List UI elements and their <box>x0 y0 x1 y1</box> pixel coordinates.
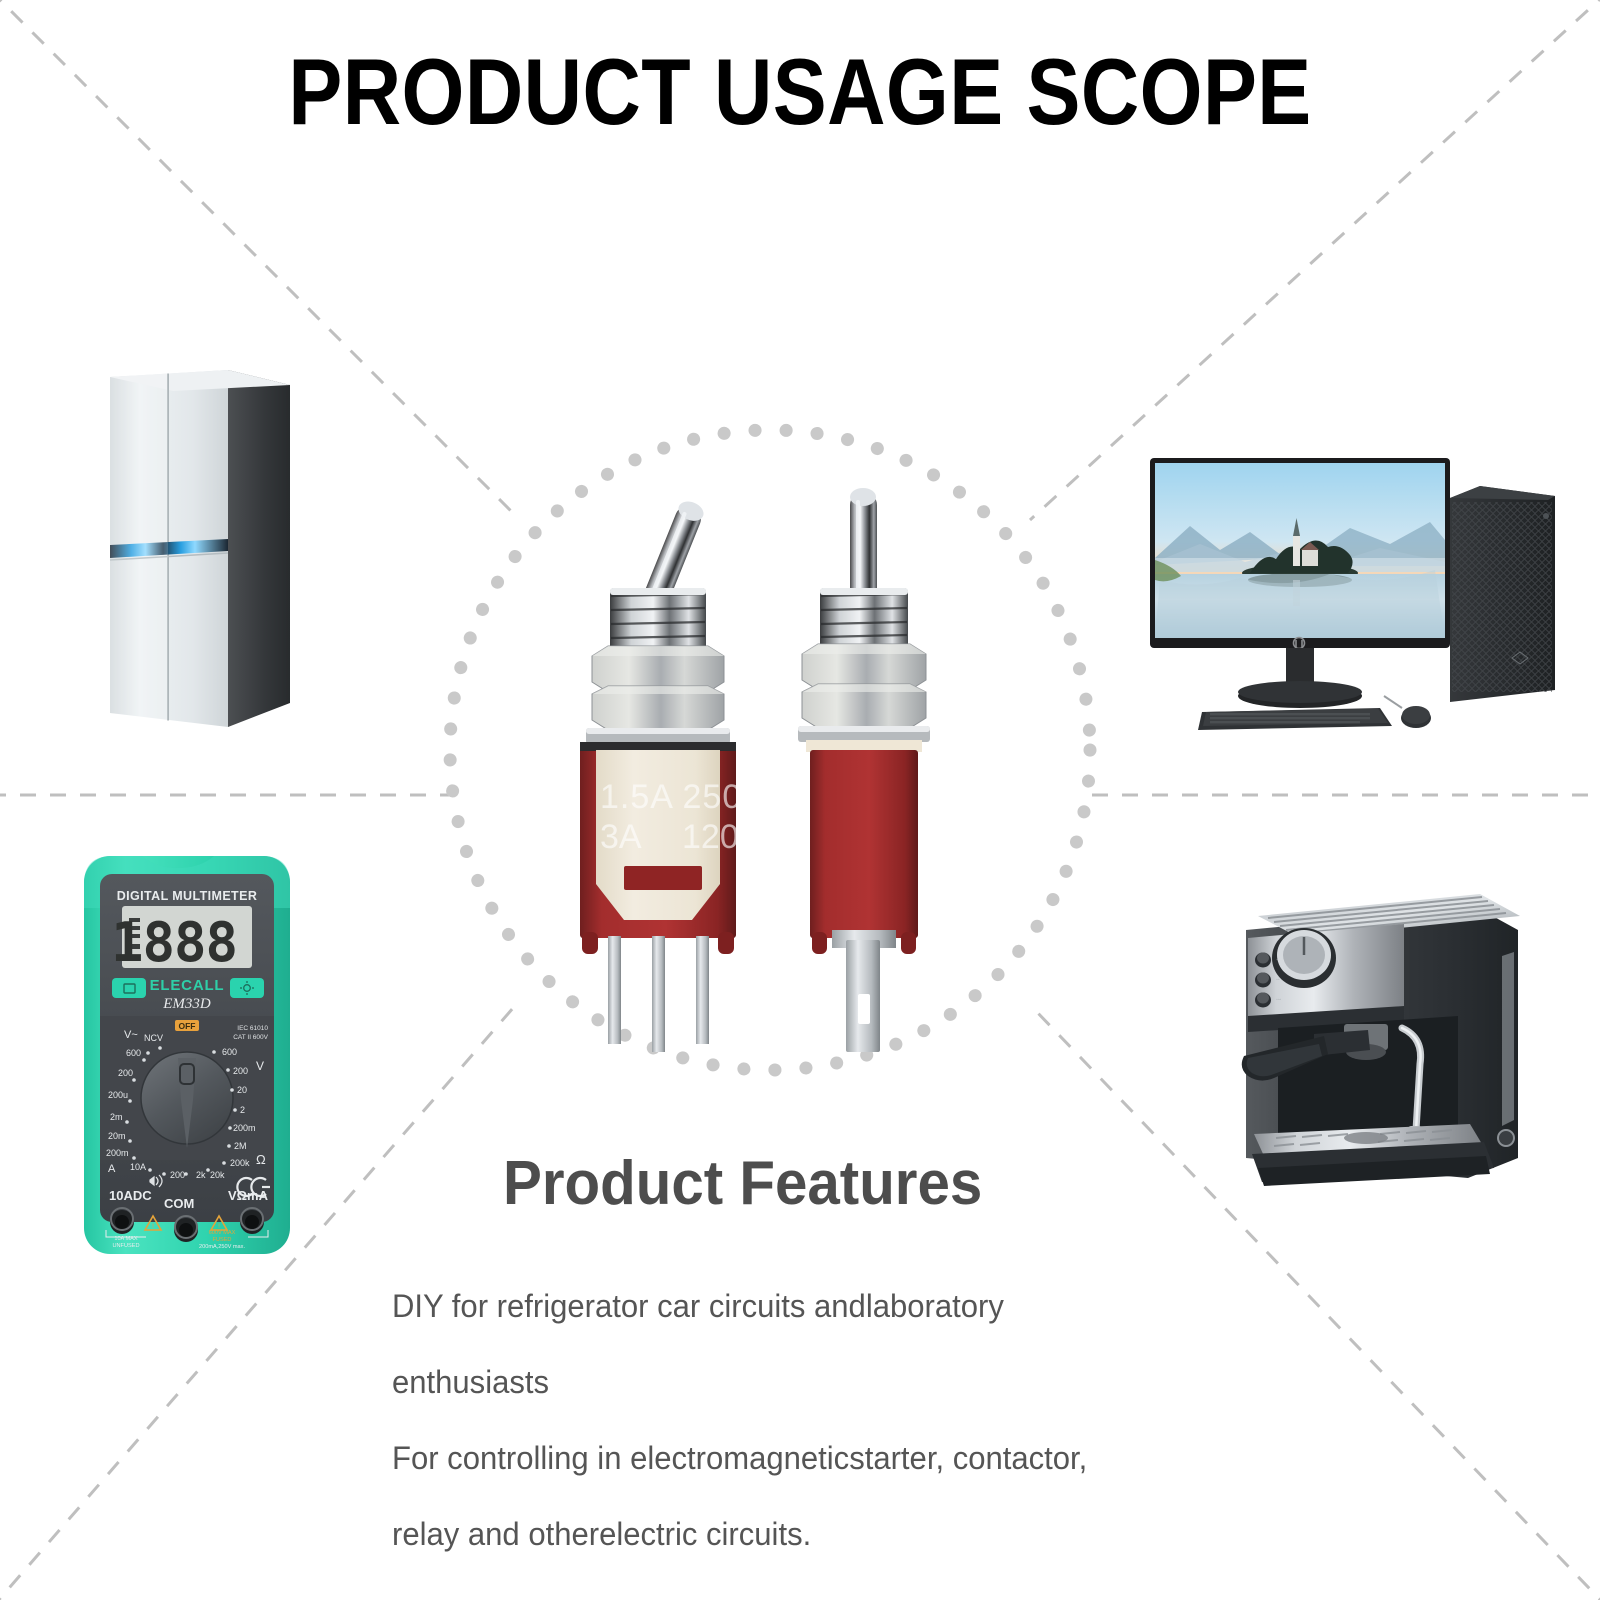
rating-text-line1: 1.5A 250V <box>600 778 766 816</box>
meter-model: EM33D <box>162 996 211 1012</box>
meter-display-value: 1888 <box>111 911 237 974</box>
hex-nut-lower <box>592 686 724 730</box>
dial-unit-voltage: V <box>256 1059 264 1073</box>
threaded-bushing <box>610 588 706 652</box>
jack-label-vohmma: VΩmA <box>228 1188 269 1203</box>
svg-text:◦◦◦: ◦◦◦ <box>1276 997 1282 1003</box>
poster-canvas: PRODUCT USAGE SCOPE <box>0 0 1600 1600</box>
mouse <box>1384 696 1431 728</box>
dial-label-r200: 200 <box>233 1066 248 1076</box>
dial-label-r200m: 200m <box>233 1123 256 1133</box>
dial-off-label: OFF <box>179 1021 196 1031</box>
rating-text-line2-current: 3A <box>600 818 642 856</box>
machine-control-knob <box>1272 928 1336 988</box>
svg-text:◦: ◦ <box>1276 957 1278 963</box>
hex-nut-lower <box>802 684 926 728</box>
feature-line-3: For controlling in electromagneticstarte… <box>392 1420 1294 1496</box>
refrigerator-image <box>95 355 310 730</box>
dial-label-l600: 600 <box>126 1048 141 1058</box>
jack-note-200ma: 200mA,250V max. <box>199 1244 245 1250</box>
svg-text:!: ! <box>218 1223 220 1230</box>
dial-label-200b: 200 <box>170 1170 185 1180</box>
jack-label-com: COM <box>164 1196 194 1211</box>
toggle-switch-front-view: 1.5A 250V 3A 120V <box>580 498 766 1052</box>
dial-unit-ohm: Ω <box>256 1152 266 1167</box>
feature-line-1: DIY for refrigerator car circuits andlab… <box>392 1268 1294 1344</box>
dial-label-200m: 200m <box>106 1148 129 1158</box>
meter-brand: ELECALL <box>150 977 225 994</box>
features-body: DIY for refrigerator car circuits andlab… <box>392 1268 1294 1572</box>
dial-label-r200k: 200k <box>230 1158 250 1168</box>
switch-terminal-blade <box>832 930 896 1052</box>
dial-label-vac: V~ <box>124 1029 138 1041</box>
dial-label-r600: 600 <box>222 1047 237 1057</box>
threaded-bushing <box>820 588 908 650</box>
jack-label-10adc: 10ADC <box>109 1188 152 1203</box>
fridge-side-panel <box>228 370 290 727</box>
toggle-switch-pair: 1.5A 250V 3A 120V <box>530 470 1020 1060</box>
dial-label-r20k: 20k <box>210 1170 225 1180</box>
meter-standard-1: IEC 61010 <box>237 1025 268 1032</box>
jack-note-fused: FUSED <box>213 1237 232 1243</box>
dial-label-2m: 2m <box>110 1112 123 1122</box>
dial-label-r20: 20 <box>237 1085 247 1095</box>
toggle-switch-side-view <box>798 488 930 1052</box>
label-window-slot <box>624 866 702 890</box>
switch-terminals <box>608 936 709 1052</box>
meter-standard-2: CAT II 600V <box>233 1034 268 1041</box>
meter-hold-button <box>112 978 146 998</box>
tower-power-button <box>1543 513 1549 519</box>
desktop-computer-image <box>1150 440 1555 730</box>
espresso-machine-image: ◦◦◦◦◦◦ <box>1218 838 1538 1203</box>
water-level-indicator <box>1498 1130 1514 1146</box>
dial-label-200u: 200u <box>108 1090 128 1100</box>
dial-label-l200: 200 <box>118 1068 133 1078</box>
dial-label-r2mohm: 2M <box>234 1141 247 1151</box>
dial-label-10a: 10A <box>130 1162 146 1172</box>
dial-label-r2: 2 <box>240 1105 245 1115</box>
svg-text:◦◦: ◦◦ <box>1276 977 1280 983</box>
rating-text-line2-voltage: 120V <box>682 818 762 856</box>
dial-label-ncv: NCV <box>144 1033 163 1043</box>
keyboard <box>1198 708 1392 730</box>
monitor-screen <box>1155 463 1445 638</box>
dial-label-2k: 2k <box>196 1170 206 1180</box>
page-title: PRODUCT USAGE SCOPE <box>112 38 1488 146</box>
feature-line-4: relay and otherelectric circuits. <box>392 1496 1294 1572</box>
hex-nut-upper <box>802 644 926 690</box>
jack-note-600v: 600V MAX <box>209 1230 236 1236</box>
meter-header-text: DIGITAL MULTIMETER <box>117 889 258 903</box>
digital-multimeter-image: DIGITAL MULTIMETER 1888 ELECALL ® EM33D <box>82 848 292 1260</box>
hex-nut-upper <box>592 646 724 692</box>
svg-text:!: ! <box>152 1223 154 1230</box>
features-heading: Product Features <box>503 1148 982 1219</box>
feature-line-2: enthusiasts <box>392 1344 1294 1420</box>
dial-label-a: A <box>108 1163 116 1175</box>
jack-note-unfused: UNFUSED <box>112 1243 139 1249</box>
computer-tower <box>1450 486 1555 702</box>
machine-buttons <box>1255 953 1271 1008</box>
dial-label-20m: 20m <box>108 1131 126 1141</box>
